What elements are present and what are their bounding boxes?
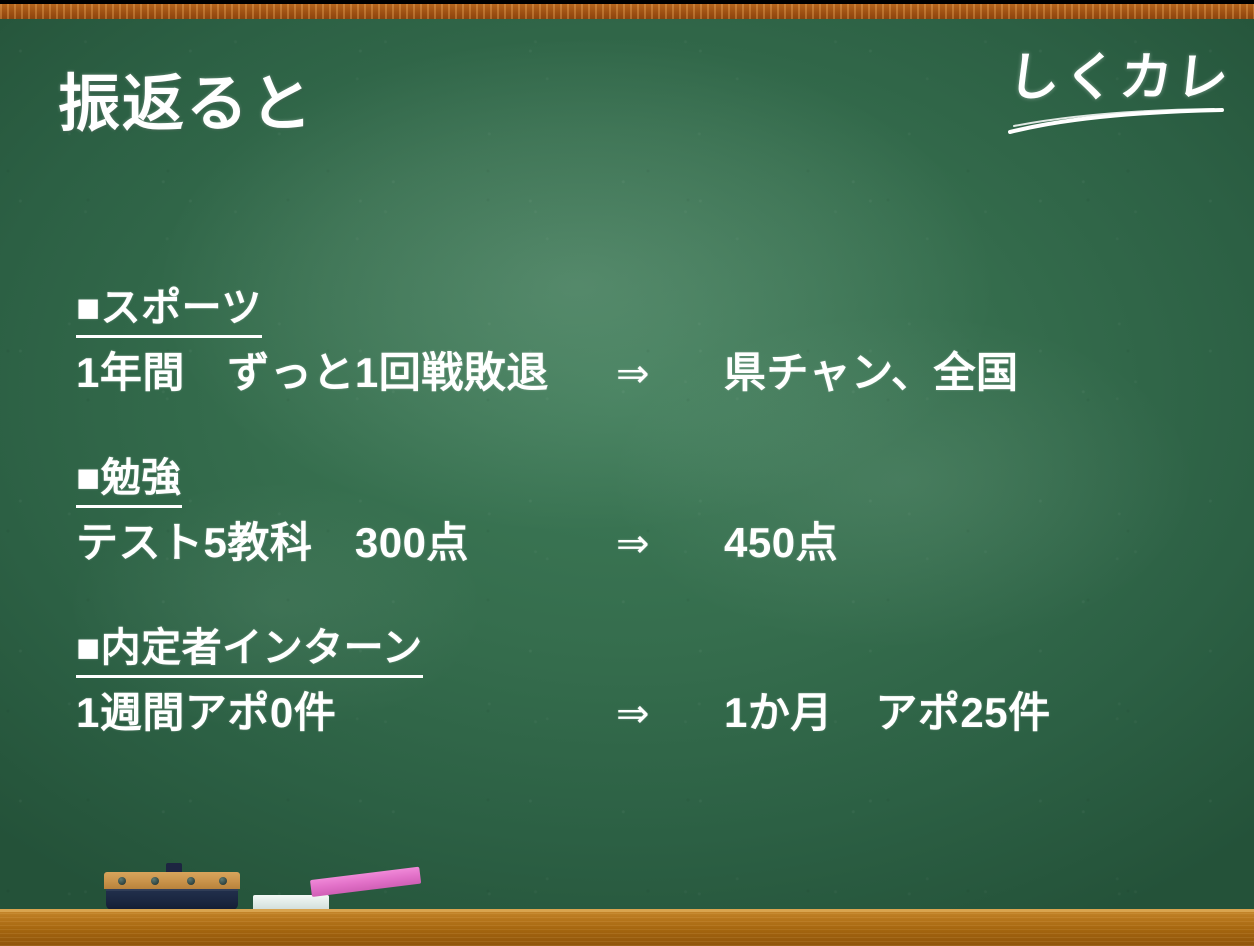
- content-list: ■スポーツ 1年間 ずっと1回戦敗退 ⇒ 県チャン、全国 ■勉強 テスト5教科 …: [0, 286, 1254, 796]
- arrow-icon-study: ⇒: [616, 521, 724, 568]
- brand-logo: しくカレ: [1008, 52, 1232, 134]
- before-value-study: テスト5教科 300点: [76, 518, 616, 568]
- block-heading-intern: ■内定者インターン: [76, 626, 423, 678]
- block-heading-study: ■勉強: [76, 456, 182, 508]
- content-block-study: ■勉強 テスト5教科 300点 ⇒ 450点: [0, 456, 1254, 568]
- chalk-ledge: [0, 909, 1254, 946]
- before-value-intern: 1週間アポ0件: [76, 688, 616, 738]
- before-value-sports: 1年間 ずっと1回戦敗退: [76, 348, 616, 398]
- arrow-icon-intern: ⇒: [616, 691, 724, 738]
- block-heading-sports: ■スポーツ: [76, 286, 262, 338]
- blackboard-eraser-icon: [104, 872, 240, 910]
- eraser-rivet: [219, 877, 227, 885]
- content-block-sports: ■スポーツ 1年間 ずっと1回戦敗退 ⇒ 県チャン、全国: [0, 286, 1254, 398]
- brand-underline-swoosh-icon: [1008, 108, 1226, 134]
- after-value-intern: 1か月 アポ25件: [724, 688, 1051, 738]
- chalk-ledge-lip: [0, 909, 1254, 912]
- top-wood-trim: [0, 4, 1254, 19]
- eraser-rivet: [187, 877, 195, 885]
- after-value-study: 450点: [724, 518, 838, 568]
- after-value-sports: 県チャン、全国: [724, 348, 1019, 398]
- eraser-wood-top: [104, 872, 240, 889]
- block-row-study: テスト5教科 300点 ⇒ 450点: [76, 518, 1254, 568]
- block-row-sports: 1年間 ずっと1回戦敗退 ⇒ 県チャン、全国: [76, 348, 1254, 398]
- arrow-icon-sports: ⇒: [616, 351, 724, 398]
- eraser-felt-pad: [106, 889, 238, 910]
- block-row-intern: 1週間アポ0件 ⇒ 1か月 アポ25件: [76, 688, 1254, 738]
- eraser-rivet: [151, 877, 159, 885]
- brand-logo-text: しくカレ: [1005, 52, 1234, 104]
- page-title: 振返ると: [58, 72, 314, 139]
- chalkboard-slide: 振返ると しくカレ ■スポーツ 1年間 ずっと1回戦敗退 ⇒ 県チャン、全国 ■…: [0, 0, 1254, 946]
- content-block-intern: ■内定者インターン 1週間アポ0件 ⇒ 1か月 アポ25件: [0, 626, 1254, 738]
- eraser-rivet: [118, 877, 126, 885]
